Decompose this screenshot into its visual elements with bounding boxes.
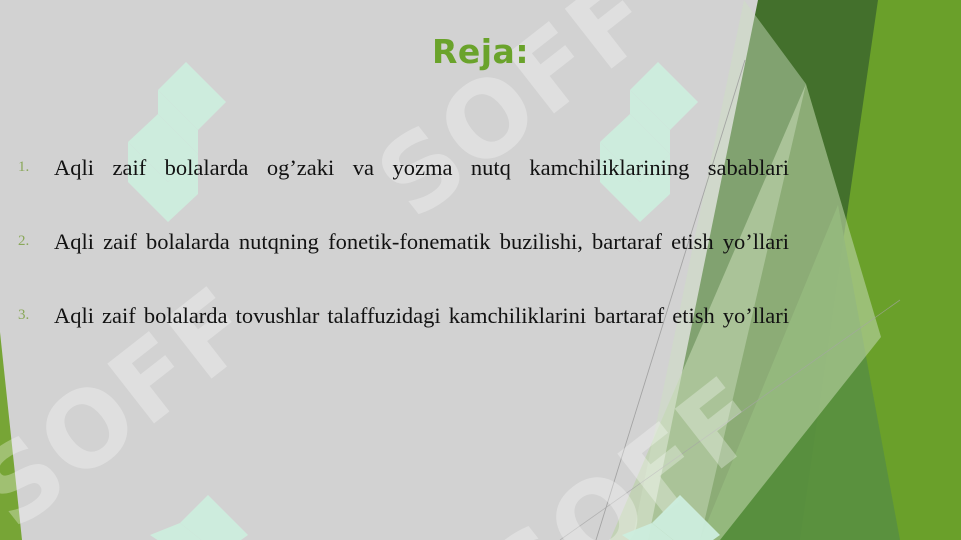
soff-angular-s-logo-icon	[150, 495, 248, 540]
list-item-text: Aqli zaif bolalarda og’zaki va yozma nut…	[54, 152, 789, 214]
numbered-list: 1. Aqli zaif bolalarda og’zaki va yozma …	[14, 152, 789, 374]
list-item-number: 3.	[14, 300, 54, 330]
page-title: Reja:	[0, 32, 961, 71]
slide-canvas: SOFF SOFF SOFF Reja:	[0, 0, 961, 540]
list-item-text: Aqli zaif bolalarda tovushlar talaffuzid…	[54, 300, 789, 362]
list-item-text: Aqli zaif bolalarda nutqning fonetik-fon…	[54, 226, 789, 288]
list-item: 3. Aqli zaif bolalarda tovushlar talaffu…	[14, 300, 789, 362]
list-item: 2. Aqli zaif bolalarda nutqning fonetik-…	[14, 226, 789, 288]
list-item-number: 1.	[14, 152, 54, 182]
soff-angular-s-logo-icon	[622, 495, 720, 540]
list-item: 1. Aqli zaif bolalarda og’zaki va yozma …	[14, 152, 789, 214]
list-item-number: 2.	[14, 226, 54, 256]
bright-green-wedge-right	[790, 0, 961, 540]
